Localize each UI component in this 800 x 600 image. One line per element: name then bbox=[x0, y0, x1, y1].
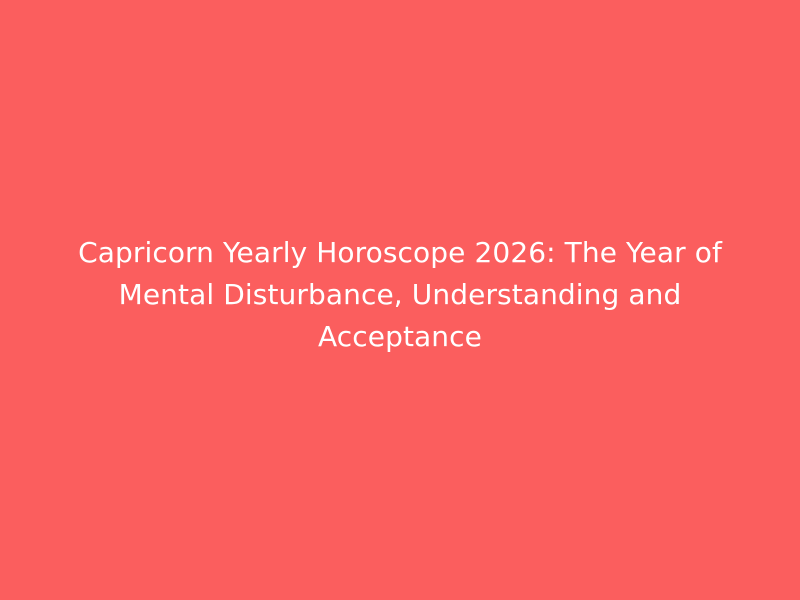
horoscope-banner-card: Capricorn Yearly Horoscope 2026: The Yea… bbox=[0, 0, 800, 600]
page-title: Capricorn Yearly Horoscope 2026: The Yea… bbox=[55, 232, 745, 358]
headline-block: Capricorn Yearly Horoscope 2026: The Yea… bbox=[50, 232, 750, 358]
